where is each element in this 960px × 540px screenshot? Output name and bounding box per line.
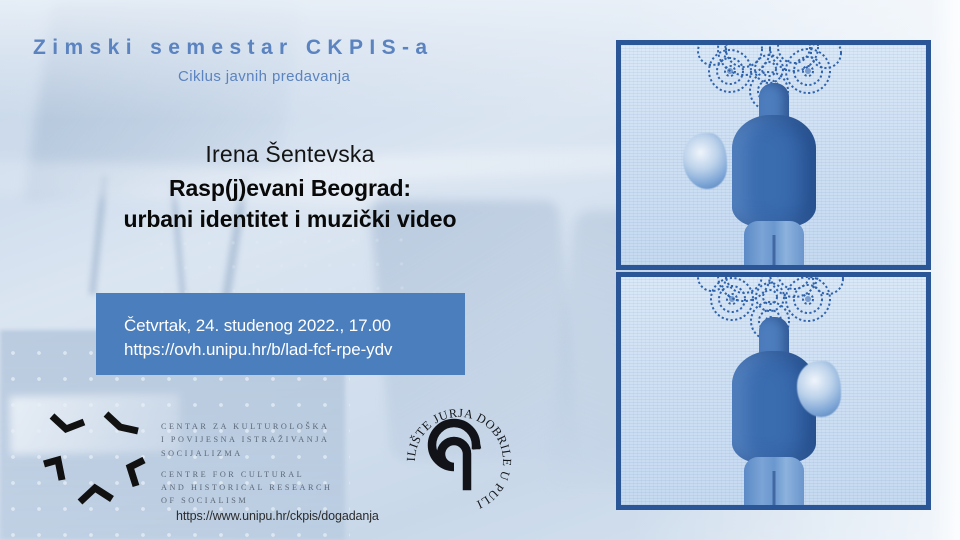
slide-root: Zimski semestar CKPIS-a Ciklus javnih pr… <box>0 0 960 540</box>
music-video-still-bottom <box>616 272 931 510</box>
centre-name-en-3: OF SOCIALISM <box>161 494 396 507</box>
series-title: Zimski semestar CKPIS-a <box>33 36 433 60</box>
figure-legs <box>744 457 804 510</box>
event-info-box: Četvrtak, 24. studenog 2022., 17.00 http… <box>96 293 465 375</box>
talk-title-line-1: Rasp(j)evani Beograd: <box>0 173 580 204</box>
centre-name-hr-3: SOCIJALIZMA <box>161 447 396 460</box>
talk-block: Irena Šentevska Rasp(j)evani Beograd: ur… <box>0 140 580 234</box>
figure-legs <box>744 221 804 270</box>
talk-title: Rasp(j)evani Beograd: urbani identitet i… <box>0 173 580 235</box>
centre-name-hr-2: I POVIJESNA ISTRAŽIVANJA <box>161 433 396 446</box>
centre-name-en-1: CENTRE FOR CULTURAL <box>161 468 396 481</box>
music-video-still-top <box>616 40 931 270</box>
centre-name-hr-1: CENTAR ZA KULTUROLOŠKA <box>161 420 396 433</box>
event-datetime: Četvrtak, 24. studenog 2022., 17.00 <box>124 314 465 338</box>
photo-inner-top <box>621 45 926 265</box>
centre-name-en-2: AND HISTORICAL RESEARCH <box>161 481 396 494</box>
footer-url[interactable]: https://www.unipu.hr/ckpis/dogadanja <box>176 509 379 523</box>
speaker-name: Irena Šentevska <box>0 140 580 169</box>
ckpis-bracket-mark-icon <box>40 398 150 508</box>
photo-inner-bottom <box>621 277 926 505</box>
event-join-link[interactable]: https://ovh.unipu.hr/b/lad-fcf-rpe-ydv <box>124 338 465 362</box>
university-seal-logo: SVEUČILIŠTE JURJA DOBRILE U PULI <box>404 406 514 516</box>
centre-name-block: CENTAR ZA KULTUROLOŠKA I POVIJESNA ISTRA… <box>161 420 396 508</box>
series-subtitle: Ciklus javnih predavanja <box>178 68 350 85</box>
figure-bouquet <box>797 361 841 417</box>
spiral-icon <box>432 423 477 486</box>
figure-bouquet <box>683 133 727 189</box>
talk-title-line-2: urbani identitet i muzički video <box>0 204 580 235</box>
figure-torso <box>732 115 816 227</box>
